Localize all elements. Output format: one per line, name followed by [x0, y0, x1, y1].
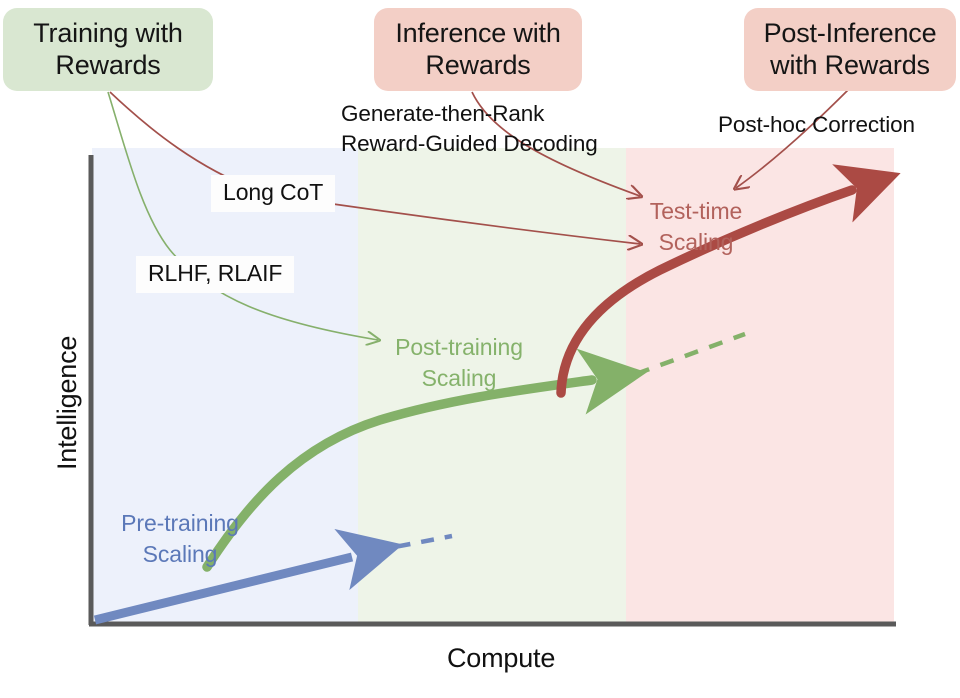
- category-box-inference-with-rewards[interactable]: Inference with Rewards: [374, 8, 582, 91]
- method-note-generate-then-rank: Generate-then-Rank Reward-Guided Decodin…: [341, 99, 598, 160]
- inline-label-rlhf-rlaif: RLHF, RLAIF: [136, 256, 294, 293]
- inline-label-long-cot: Long CoT: [211, 175, 335, 212]
- category-box-label: Inference with Rewards: [395, 18, 560, 82]
- category-box-training-with-rewards[interactable]: Training with Rewards: [3, 8, 213, 91]
- scaling-laws-diagram: Training with Rewards Inference with Rew…: [0, 0, 960, 698]
- category-box-label: Training with Rewards: [33, 18, 182, 82]
- region-label-pre-training: Pre-training Scaling: [110, 508, 250, 569]
- method-note-post-hoc-correction: Post-hoc Correction: [718, 110, 915, 140]
- category-box-label: Post-Inference with Rewards: [764, 18, 937, 82]
- connector-training-to-post-training: [108, 92, 378, 340]
- region-label-post-training: Post-training Scaling: [385, 332, 533, 393]
- y-axis-title: Intelligence: [52, 336, 83, 470]
- x-axis-title: Compute: [447, 643, 555, 674]
- category-box-post-inference-with-rewards[interactable]: Post-Inference with Rewards: [744, 8, 956, 91]
- region-label-test-time: Test-time Scaling: [640, 196, 752, 257]
